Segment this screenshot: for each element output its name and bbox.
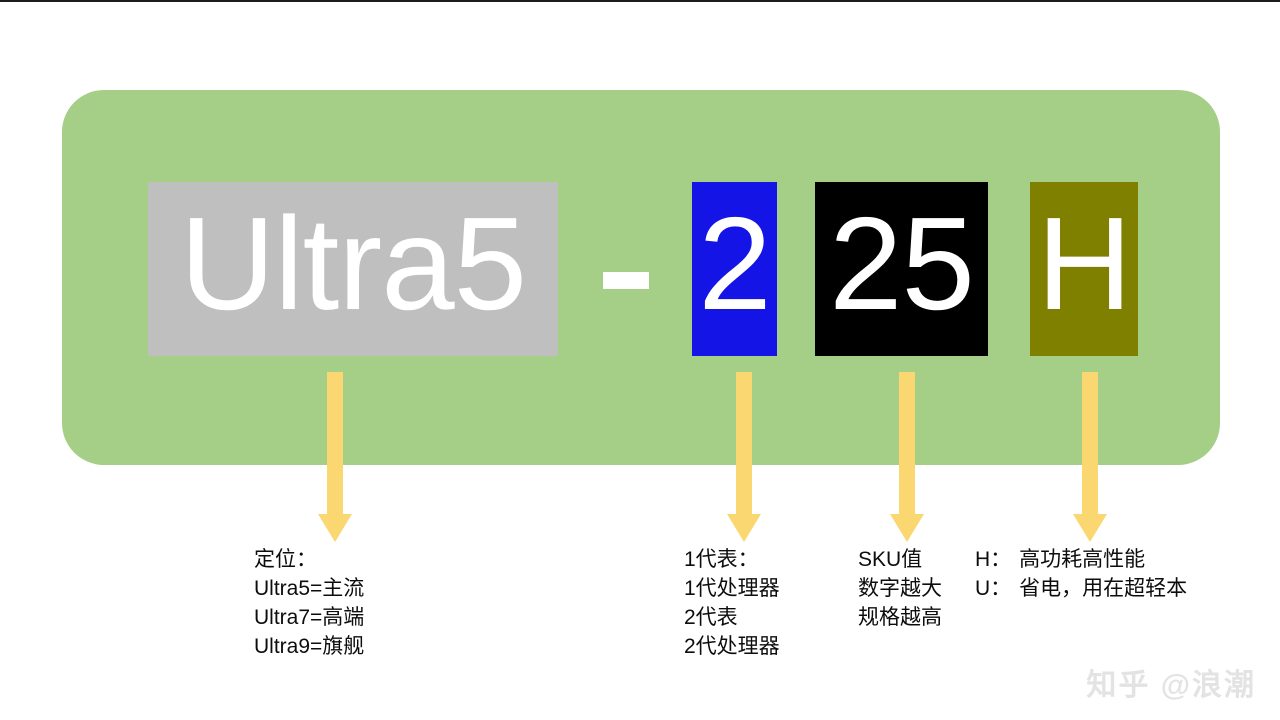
caption-brand: 定位： Ultra5=主流 Ultra7=高端 Ultra9=旗舰 — [254, 545, 364, 661]
caption-generation-line-3: 2代处理器 — [684, 632, 780, 661]
caption-suffix: H： 高功耗高性能 U： 省电，用在超轻本 — [975, 545, 1187, 603]
watermark: 知乎 @浪潮 — [1086, 660, 1256, 704]
infographic-canvas: Ultra5 2 25 H 定位： Ultra5=主流 Ultra7=高端 Ul… — [0, 0, 1280, 720]
caption-suffix-value-u: 省电，用在超轻本 — [1019, 574, 1187, 603]
caption-sku-line-2: 规格越高 — [858, 603, 942, 632]
caption-brand-title: 定位： — [254, 545, 364, 574]
caption-sku-line-1: 数字越大 — [858, 574, 942, 603]
caption-suffix-value-h: 高功耗高性能 — [1019, 545, 1187, 574]
caption-generation-title: 1代表： — [684, 545, 780, 574]
caption-generation-line-2: 2代表 — [684, 603, 780, 632]
caption-sku-title: SKU值 — [858, 545, 942, 574]
caption-brand-line-3: Ultra9=旗舰 — [254, 632, 364, 661]
caption-suffix-key-h: H： — [975, 545, 1011, 574]
caption-suffix-key-u: U： — [975, 574, 1011, 603]
caption-generation: 1代表： 1代处理器 2代表 2代处理器 — [684, 545, 780, 661]
green-backdrop-panel — [62, 90, 1220, 465]
caption-brand-line-2: Ultra7=高端 — [254, 603, 364, 632]
caption-sku: SKU值 数字越大 规格越高 — [858, 545, 942, 632]
caption-generation-line-1: 1代处理器 — [684, 574, 780, 603]
caption-brand-line-1: Ultra5=主流 — [254, 574, 364, 603]
